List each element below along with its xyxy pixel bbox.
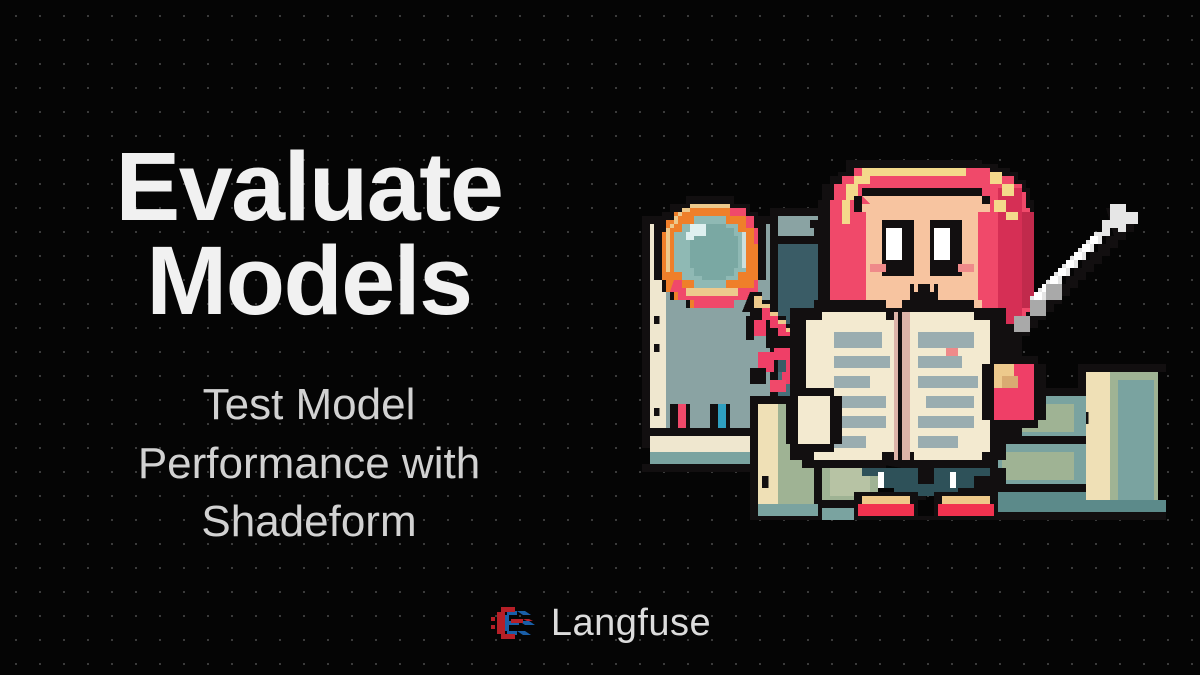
langfuse-logo-icon (489, 603, 535, 643)
pixel-art-illustration (606, 124, 1166, 520)
hero-text-block: Evaluate Models Test Model Performance w… (0, 140, 600, 552)
brand-name: Langfuse (551, 604, 711, 642)
brand-lockup: Langfuse (0, 603, 1200, 643)
page-subtitle: Test Model Performance with Shadeform (18, 376, 600, 552)
poster-canvas: Evaluate Models Test Model Performance w… (0, 0, 1200, 675)
page-title: Evaluate Models (18, 140, 600, 328)
